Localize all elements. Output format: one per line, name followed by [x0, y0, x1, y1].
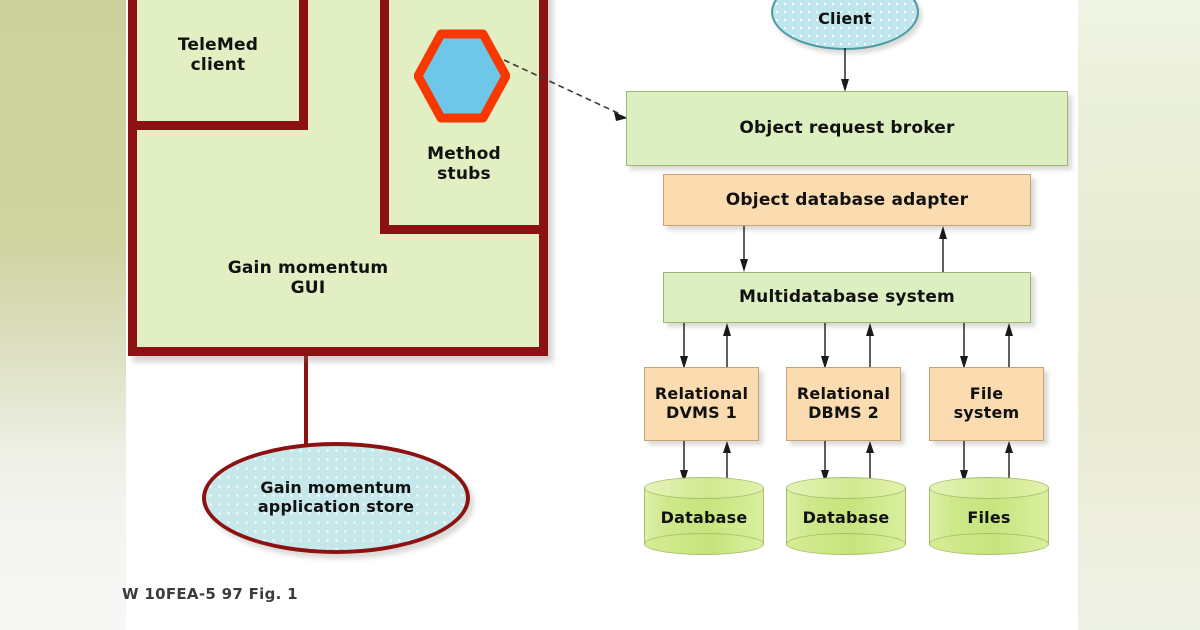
connector-multidatabase-to-backend-2-down [820, 323, 834, 371]
connector-client-to-orb [840, 48, 854, 94]
connector-adapter-to-multidatabase-down [739, 226, 753, 274]
multidatabase-system-box[interactable] [663, 272, 1031, 323]
datastore-cylinder-3[interactable] [929, 477, 1049, 555]
diagram-area: TeleMed client Method stubs Gain momentu… [126, 0, 1078, 630]
connector-gui-to-application-store [304, 352, 308, 457]
backend-box-2[interactable] [786, 367, 901, 441]
cylinder-bottom [644, 533, 764, 555]
decorative-right-gradient-band [1078, 0, 1200, 630]
gain-momentum-application-store-label: Gain momentum application store [258, 479, 414, 517]
decorative-left-gradient-band [0, 0, 126, 630]
datastore-cylinder-1[interactable] [644, 477, 764, 555]
figure-caption: W 10FEA-5 97 Fig. 1 [122, 585, 298, 603]
cylinder-top [644, 477, 764, 499]
telemed-client-box[interactable] [128, 0, 308, 130]
gain-momentum-application-store-ellipse[interactable]: Gain momentum application store [202, 442, 470, 554]
connector-multidatabase-to-backend-1-down [679, 323, 693, 371]
cylinder-top [929, 477, 1049, 499]
object-request-broker-box[interactable] [626, 91, 1068, 166]
connector-multidatabase-to-backend-3-down [959, 323, 973, 371]
backend-box-1[interactable] [644, 367, 759, 441]
cylinder-bottom [786, 533, 906, 555]
method-stub-hexagon[interactable] [414, 28, 510, 124]
figure-canvas: TeleMed client Method stubs Gain momentu… [0, 0, 1200, 630]
object-database-adapter-box[interactable] [663, 174, 1031, 226]
client-label: Client [818, 0, 872, 28]
client-ellipse[interactable]: Client [771, 0, 919, 50]
cylinder-bottom [929, 533, 1049, 555]
connector-multidatabase-to-adapter-up [938, 226, 952, 274]
cylinder-top [786, 477, 906, 499]
connector-backend-2-to-multidatabase-up [865, 323, 879, 371]
connector-backend-1-to-multidatabase-up [722, 323, 736, 371]
backend-box-3[interactable] [929, 367, 1044, 441]
connector-backend-3-to-multidatabase-up [1004, 323, 1018, 371]
datastore-cylinder-2[interactable] [786, 477, 906, 555]
